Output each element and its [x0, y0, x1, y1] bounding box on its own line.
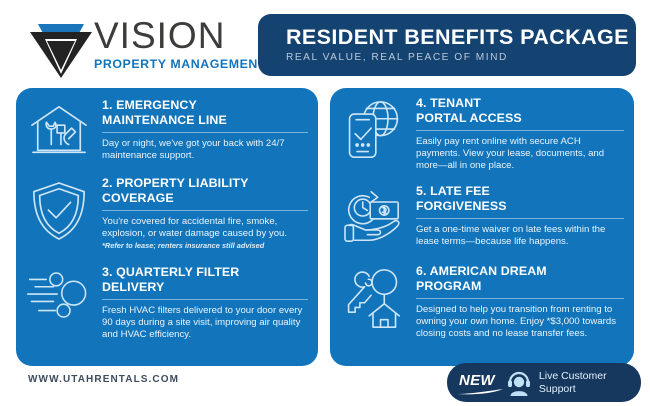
money-hand-clock-icon: [330, 184, 416, 244]
divider: [102, 299, 308, 300]
benefit-body-4: 4. TENANT PORTAL ACCESS Easily pay rent …: [416, 96, 634, 173]
resident-benefits-infographic: VISION PROPERTY MANAGEMENT RESIDENT BENE…: [0, 0, 650, 406]
benefit-description-2: You're covered for accidental fire, smok…: [102, 216, 308, 240]
divider: [416, 218, 624, 219]
divider: [102, 210, 308, 211]
benefit-item-5: 5. LATE FEE FORGIVENESS Get a one-time w…: [330, 184, 634, 248]
benefit-body-6: 6. AMERICAN DREAM PROGRAM Designed to he…: [416, 264, 634, 341]
brand-logo: VISION PROPERTY MANAGEMENT: [28, 9, 258, 79]
divider: [102, 132, 308, 133]
benefit-body-1: 1. EMERGENCY MAINTENANCE LINE Day or nig…: [102, 98, 318, 162]
website-url[interactable]: WWW.UTAHRENTALS.COM: [28, 374, 179, 385]
headset-support-avatar-icon: [506, 370, 532, 396]
header-banner: RESIDENT BENEFITS PACKAGE REAL VALUE, RE…: [258, 14, 636, 76]
swoosh-icon: [457, 389, 503, 395]
live-customer-support-badge[interactable]: NEW Live Customer Support: [447, 363, 641, 402]
benefits-panel-right: 4. TENANT PORTAL ACCESS Easily pay rent …: [330, 88, 634, 366]
benefit-body-5: 5. LATE FEE FORGIVENESS Get a one-time w…: [416, 184, 634, 248]
brand-wordmark: VISION PROPERTY MANAGEMENT: [94, 16, 264, 71]
benefit-title-3: 3. QUARTERLY FILTER DELIVERY: [102, 265, 308, 294]
benefit-description-4: Easily pay rent online with secure ACH p…: [416, 136, 624, 173]
benefit-title-5: 5. LATE FEE FORGIVENESS: [416, 184, 624, 213]
benefit-title-2: 2. PROPERTY LIABILITY COVERAGE: [102, 176, 308, 205]
air-flow-icon: [16, 265, 102, 321]
benefit-item-4: 4. TENANT PORTAL ACCESS Easily pay rent …: [330, 96, 634, 173]
shield-check-icon: [16, 176, 102, 242]
benefits-panel-left: 1. EMERGENCY MAINTENANCE LINE Day or nig…: [16, 88, 318, 366]
brand-name: VISION: [94, 16, 264, 56]
benefit-body-2: 2. PROPERTY LIABILITY COVERAGE You're co…: [102, 176, 318, 251]
phone-globe-icon: [330, 96, 416, 160]
benefit-item-3: 3. QUARTERLY FILTER DELIVERY Fresh HVAC …: [16, 265, 318, 342]
benefit-item-6: 6. AMERICAN DREAM PROGRAM Designed to he…: [330, 264, 634, 341]
benefit-title-1: 1. EMERGENCY MAINTENANCE LINE: [102, 98, 308, 127]
new-label: NEW: [459, 373, 495, 393]
benefit-title-4: 4. TENANT PORTAL ACCESS: [416, 96, 624, 125]
benefit-title-6: 6. AMERICAN DREAM PROGRAM: [416, 264, 624, 293]
benefit-body-3: 3. QUARTERLY FILTER DELIVERY Fresh HVAC …: [102, 265, 318, 342]
benefit-description-5: Get a one-time waiver on late fees withi…: [416, 224, 624, 248]
brand-tagline: PROPERTY MANAGEMENT: [94, 57, 264, 71]
benefit-description-3: Fresh HVAC filters delivered to your doo…: [102, 305, 308, 342]
keys-house-icon: [330, 264, 416, 330]
vision-v-logo-icon: [28, 12, 94, 80]
divider: [416, 130, 624, 131]
benefit-note-2: *Refer to lease; renters insurance still…: [102, 241, 308, 251]
benefit-item-1: 1. EMERGENCY MAINTENANCE LINE Day or nig…: [16, 98, 318, 162]
divider: [416, 298, 624, 299]
house-tools-icon: [16, 98, 102, 160]
benefit-item-2: 2. PROPERTY LIABILITY COVERAGE You're co…: [16, 176, 318, 251]
benefit-description-1: Day or night, we've got your back with 2…: [102, 138, 308, 162]
benefit-description-6: Designed to help you transition from ren…: [416, 304, 624, 341]
page-subtitle: REAL VALUE, REAL PEACE OF MIND: [286, 51, 636, 65]
page-title: RESIDENT BENEFITS PACKAGE: [286, 25, 636, 49]
support-label: Live Customer Support: [539, 370, 607, 395]
header: VISION PROPERTY MANAGEMENT RESIDENT BENE…: [0, 0, 650, 88]
